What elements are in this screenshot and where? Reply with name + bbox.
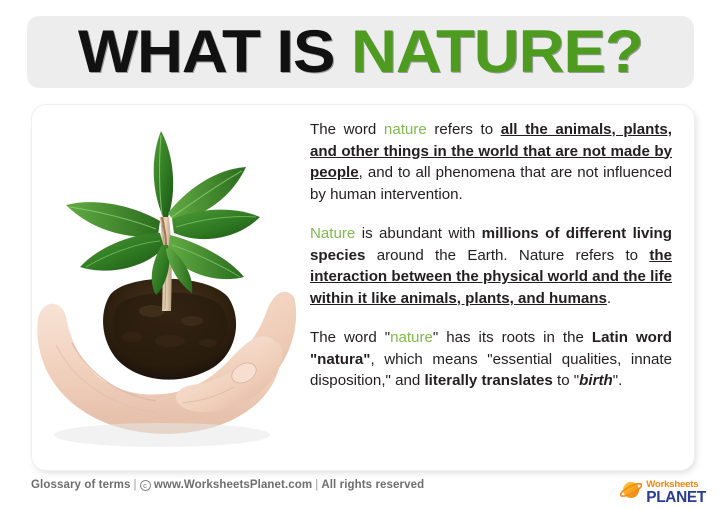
worksheets-planet-logo[interactable]: Worksheets PLANET (620, 478, 706, 507)
p3-run-8: ". (613, 372, 623, 389)
p3-run-2: " has its roots in the (433, 329, 592, 346)
p2-run-3: around the Earth. Nature refers to (365, 247, 649, 264)
footer-credits: Glossary of terms|c www.WorksheetsPlanet… (31, 479, 424, 491)
footer-rights: All rights reserved (321, 479, 424, 491)
content-card: The word nature refers to all the animal… (32, 105, 694, 470)
p3-run-0: The word " (310, 329, 390, 346)
logo-top-word: Worksheets (646, 480, 706, 490)
plant-in-hands-image (32, 105, 300, 470)
page-title-dark-part: WHAT IS (78, 18, 351, 85)
p3-run-6: to " (553, 372, 579, 389)
definition-text-column: The word nature refers to all the animal… (300, 105, 694, 470)
footer-separator-2: | (312, 479, 321, 491)
footer-glossary-label: Glossary of terms (31, 479, 131, 491)
p2-run-0-highlight: Nature (310, 225, 355, 242)
paragraph-1: The word nature refers to all the animal… (310, 119, 672, 205)
p3-run-5-bold: literally translates (424, 372, 552, 389)
planet-swoosh-icon (620, 479, 644, 506)
paragraph-2: Nature is abundant with millions of diff… (310, 223, 672, 309)
p1-run-2: refers to (427, 121, 501, 138)
seedling-in-hands-illustration (32, 105, 300, 470)
page-title: WHAT IS NATURE? (78, 22, 643, 82)
page-header-bar: WHAT IS NATURE? (27, 16, 694, 88)
footer-website[interactable]: www.WorksheetsPlanet.com (154, 479, 312, 491)
p2-run-5: . (607, 290, 611, 307)
page-title-green-part: NATURE? (351, 18, 643, 85)
p1-run-1-highlight: nature (384, 121, 427, 138)
logo-bottom-word: PLANET (646, 490, 706, 505)
p1-run-0: The word (310, 121, 384, 138)
p3-run-1-highlight: nature (390, 329, 433, 346)
logo-wordmark: Worksheets PLANET (646, 480, 706, 506)
p1-run-4: , and to all phenomena that are not infl… (310, 164, 672, 203)
page-footer: Glossary of terms|c www.WorksheetsPlanet… (0, 476, 720, 509)
paragraph-3: The word "nature" has its roots in the L… (310, 327, 672, 392)
p3-run-7-italic: birth (579, 372, 613, 389)
p2-run-1: is abundant with (355, 225, 481, 242)
footer-separator-1: | (131, 479, 140, 491)
copyright-icon: c (140, 480, 151, 491)
